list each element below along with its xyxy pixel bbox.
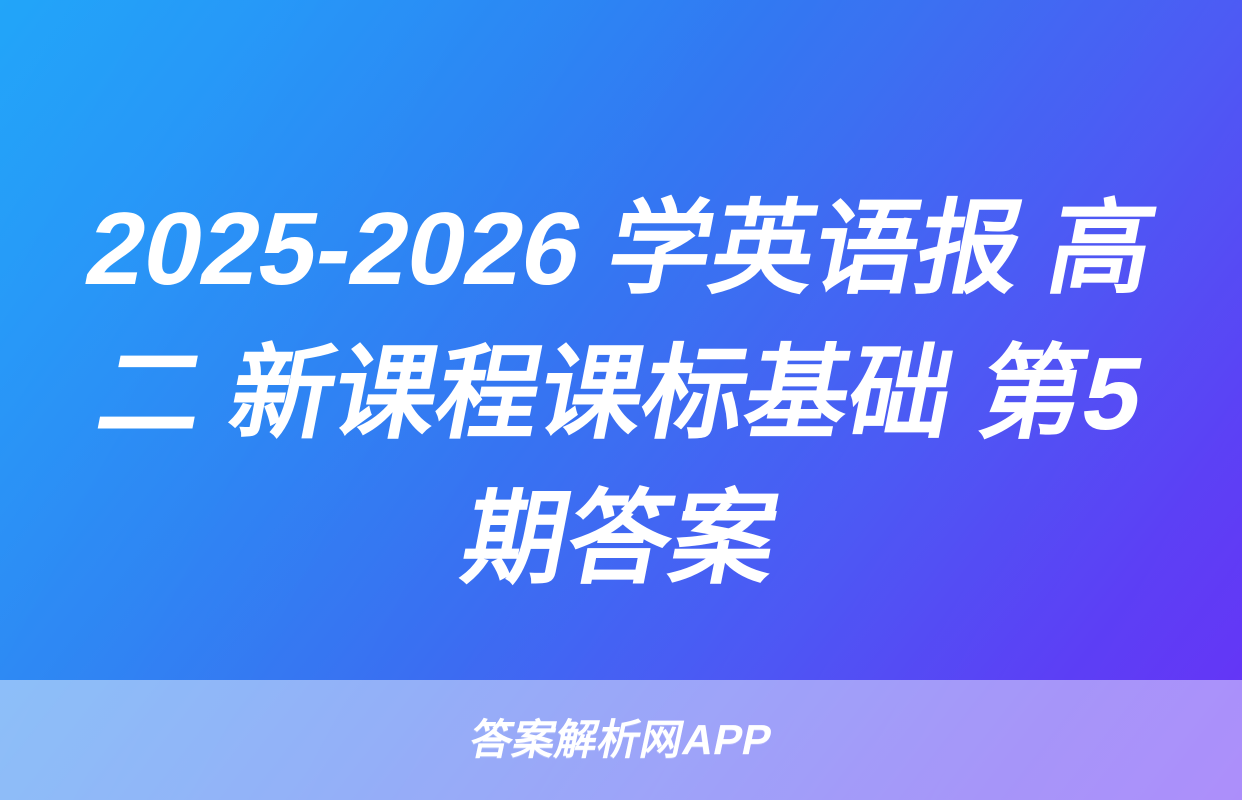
page-title: 2025-2026 学英语报 高 二 新课程课标基础 第5 期答案 (0, 176, 1242, 656)
footer-watermark-band: 答案解析网APP (0, 680, 1242, 800)
page-title-line-1: 2025-2026 学英语报 高 (42, 176, 1200, 321)
page-title-line-3: 期答案 (42, 466, 1200, 611)
poster-canvas: 2025-2026 学英语报 高 二 新课程课标基础 第5 期答案 答案解析网A… (0, 0, 1242, 800)
app-watermark-label: 答案解析网APP (466, 717, 776, 763)
page-title-line-2: 二 新课程课标基础 第5 (42, 321, 1200, 466)
